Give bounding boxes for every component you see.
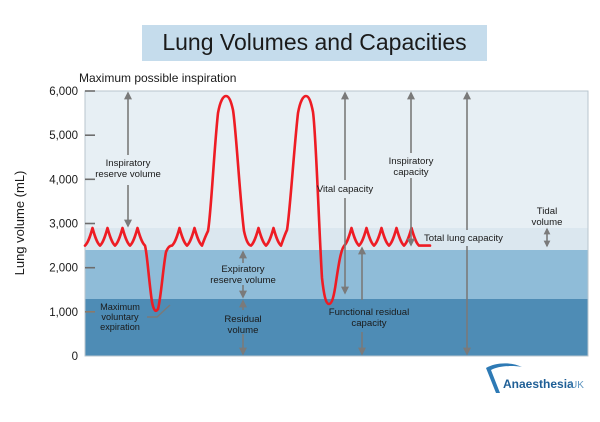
- lung-volumes-figure: Lung Volumes and Capacities Lung volume …: [0, 0, 600, 422]
- tv-label-line2: volume: [532, 217, 563, 228]
- y-tick-label-6000: 6,000: [49, 86, 78, 98]
- band-inspiratory-reserve: [85, 91, 588, 228]
- y-tick-label-0: 0: [72, 351, 78, 363]
- max-inspiration-note: Maximum possible inspiration: [79, 71, 236, 85]
- frc-label-line2: capacity: [351, 318, 386, 329]
- y-tick-label-5000: 5,000: [49, 130, 78, 142]
- y-tick-label-4000: 4,000: [49, 174, 78, 186]
- title-banner: Lung Volumes and Capacities: [142, 25, 487, 61]
- page-title: Lung Volumes and Capacities: [162, 29, 466, 55]
- tv-label-line1: Tidal: [537, 206, 557, 217]
- anaesthesia-uk-logo[interactable]: Anaesthesia UK: [486, 363, 584, 393]
- irv-label-line2: reserve volume: [95, 169, 161, 180]
- mve-label-line3: expiration: [100, 322, 140, 332]
- logo-suffix: UK: [570, 380, 584, 391]
- y-axis-title: Lung volume (mL): [12, 171, 27, 276]
- ic-label-line2: capacity: [393, 167, 428, 178]
- y-tick-label-3000: 3,000: [49, 219, 78, 231]
- rv-label-line1: Residual: [224, 314, 261, 325]
- frc-label-line1: Functional residual: [329, 307, 410, 318]
- y-axis: Lung volume (mL) 6,000 5,000 4,000 3,000…: [12, 86, 95, 363]
- chart-canvas: Lung Volumes and Capacities Lung volume …: [0, 0, 600, 422]
- erv-label-line2: reserve volume: [210, 275, 276, 286]
- mve-label-line2: voluntary: [101, 312, 139, 322]
- vc-label: Vital capacity: [317, 184, 374, 195]
- tlc-label: Total lung capacity: [424, 233, 503, 244]
- ic-label-line1: Inspiratory: [389, 156, 434, 167]
- band-tidal: [85, 228, 588, 250]
- y-tick-label-2000: 2,000: [49, 263, 78, 275]
- irv-label-line1: Inspiratory: [106, 158, 151, 169]
- y-tick-label-1000: 1,000: [49, 307, 78, 319]
- erv-label-line1: Expiratory: [221, 264, 264, 275]
- mve-label-line1: Maximum: [100, 302, 140, 312]
- logo-name: Anaesthesia: [503, 377, 574, 391]
- rv-label-line2: volume: [228, 325, 259, 336]
